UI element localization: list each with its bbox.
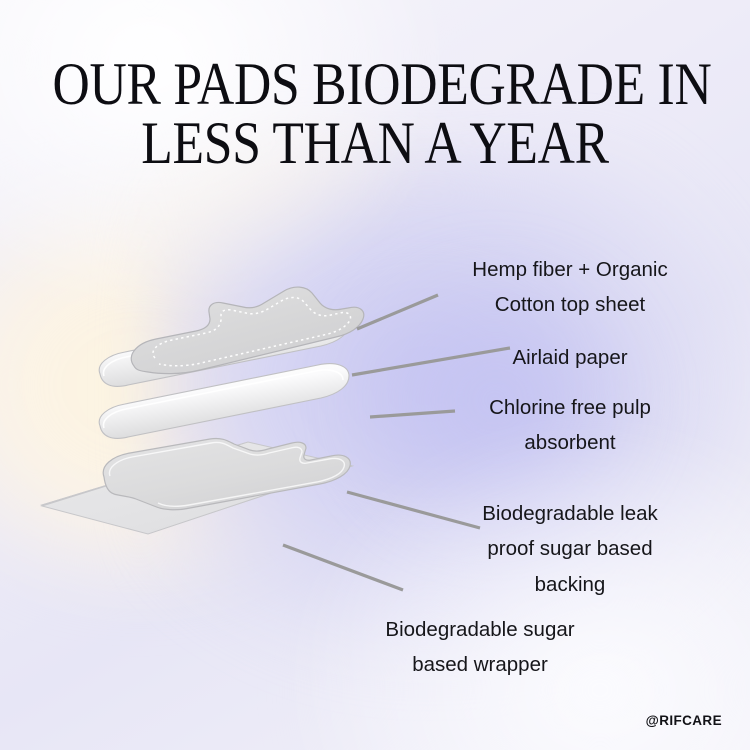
infographic-canvas: OUR PADS BIODEGRADE IN LESS THAN A YEAR: [0, 0, 750, 750]
label-airlaid-paper: Airlaid paper: [430, 340, 710, 375]
brand-handle: @RIFCARE: [646, 713, 722, 728]
layer-backing: [103, 438, 350, 509]
page-title: OUR PADS BIODEGRADE IN LESS THAN A YEAR: [0, 55, 750, 174]
label-chlorine-free-pulp: Chlorine free pulp absorbent: [430, 390, 710, 461]
page-title-line-1: OUR PADS BIODEGRADE IN: [53, 55, 698, 114]
label-hemp-cotton-top-sheet: Hemp fiber + Organic Cotton top sheet: [430, 252, 710, 323]
page-title-line-2: LESS THAN A YEAR: [53, 114, 698, 173]
leader-line-wrapper: [283, 545, 403, 590]
leader-line-top-sheet: [357, 295, 438, 329]
label-biodegradable-wrapper: Biodegradable sugar based wrapper: [330, 612, 630, 683]
label-biodegradable-backing: Biodegradable leak proof sugar based bac…: [430, 496, 710, 602]
